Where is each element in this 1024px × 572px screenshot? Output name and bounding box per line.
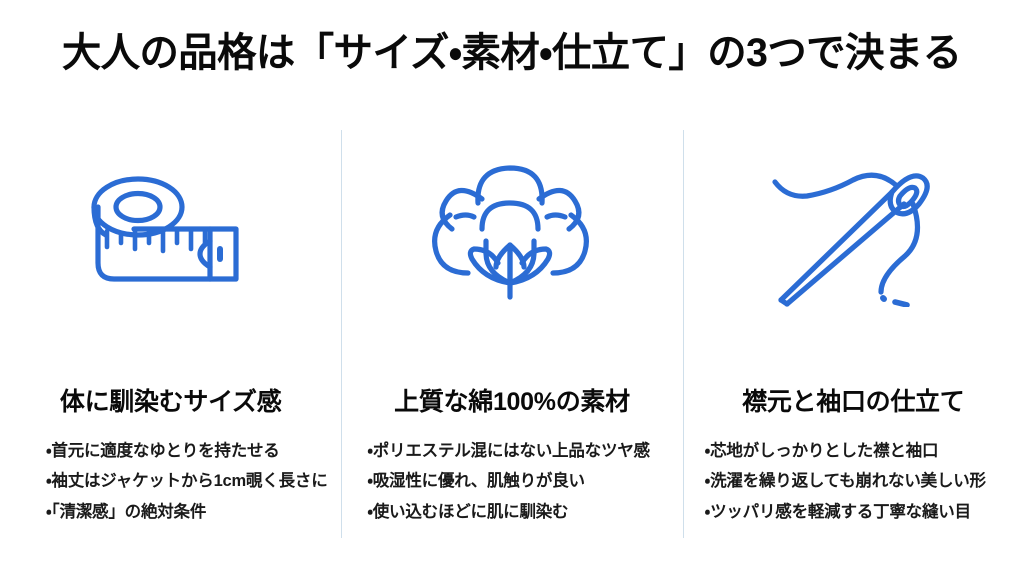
- column-size: 体に馴染むサイズ感 ・首元に適度なゆとりを持たせる ・袖丈はジャケットから1cm…: [0, 122, 341, 552]
- column-heading-size: 体に馴染むサイズ感: [60, 389, 282, 417]
- list-item: ・ツッパリ感を軽減する丁寧な縫い目: [705, 504, 1024, 521]
- slide-root: 大人の品格は「サイズ・素材・仕立て」の3つで決まる: [0, 0, 1024, 572]
- needle-and-thread-icon: [683, 122, 1024, 337]
- slide-title-bar: 大人の品格は「サイズ・素材・仕立て」の3つで決まる: [0, 30, 1024, 76]
- bullet-list-material: ・ポリエステル混にはない上品なツヤ感 ・吸湿性に優れ、肌触りが良い ・使い込むほ…: [341, 443, 682, 535]
- list-item: ・洗濯を繰り返しても崩れない美しい形: [705, 473, 1024, 490]
- column-heading-material: 上質な綿100%の素材: [394, 389, 630, 417]
- list-item: ・首元に適度なゆとりを持たせる: [46, 443, 341, 460]
- list-item: ・ポリエステル混にはない上品なツヤ感: [367, 443, 682, 460]
- column-material: 上質な綿100%の素材 ・ポリエステル混にはない上品なツヤ感 ・吸湿性に優れ、肌…: [341, 122, 682, 552]
- cotton-boll-icon: [341, 122, 682, 337]
- list-item: ・「清潔感」の絶対条件: [46, 504, 341, 521]
- list-item: ・吸湿性に優れ、肌触りが良い: [367, 473, 682, 490]
- measuring-tape-icon: [0, 122, 341, 337]
- columns-container: 体に馴染むサイズ感 ・首元に適度なゆとりを持たせる ・袖丈はジャケットから1cm…: [0, 122, 1024, 552]
- bullet-list-tailoring: ・芯地がしっかりとした襟と袖口 ・洗濯を繰り返しても崩れない美しい形 ・ツッパリ…: [683, 443, 1024, 535]
- list-item: ・使い込むほどに肌に馴染む: [367, 504, 682, 521]
- page-title: 大人の品格は「サイズ・素材・仕立て」の3つで決まる: [62, 30, 962, 76]
- list-item: ・芯地がしっかりとした襟と袖口: [705, 443, 1024, 460]
- list-item: ・袖丈はジャケットから1cm覗く長さに: [46, 473, 341, 490]
- column-heading-tailoring: 襟元と袖口の仕立て: [742, 389, 964, 417]
- bullet-list-size: ・首元に適度なゆとりを持たせる ・袖丈はジャケットから1cm覗く長さに ・「清潔…: [0, 443, 341, 535]
- column-tailoring: 襟元と袖口の仕立て ・芯地がしっかりとした襟と袖口 ・洗濯を繰り返しても崩れない…: [683, 122, 1024, 552]
